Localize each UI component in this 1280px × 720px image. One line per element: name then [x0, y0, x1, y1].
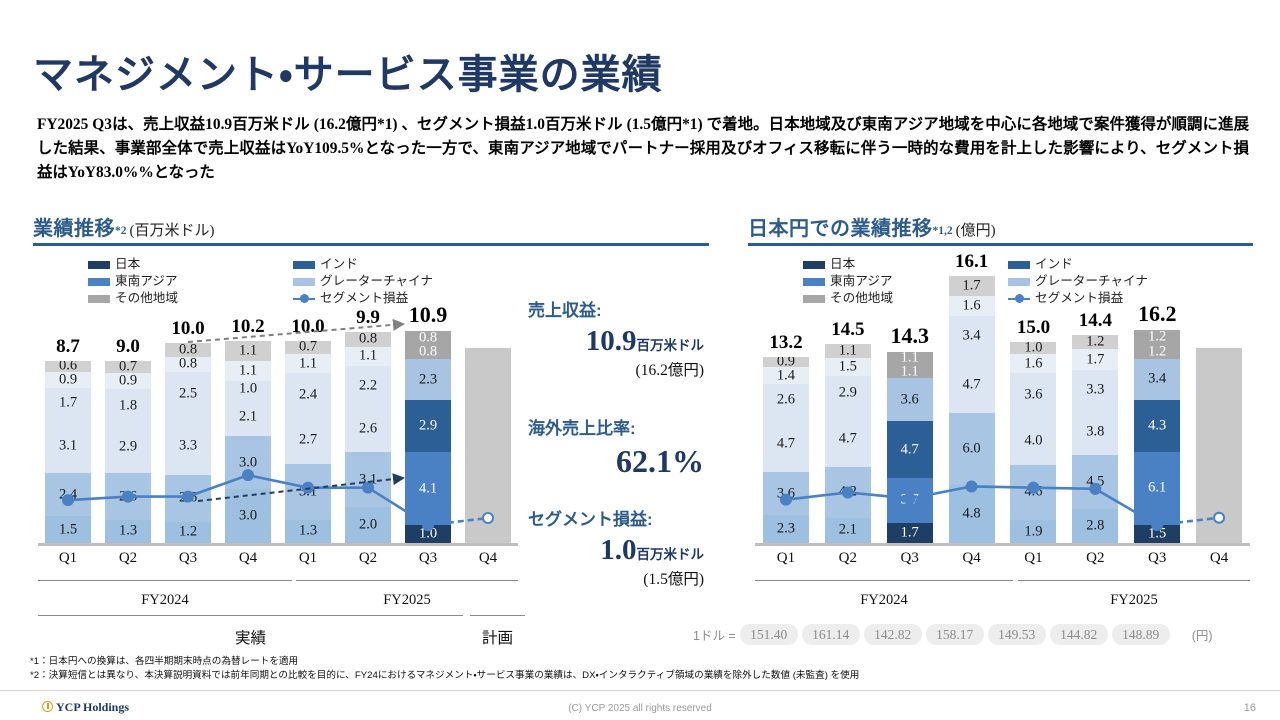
bar-segment: 2.9	[405, 400, 451, 452]
left-heading-superscript: *2	[115, 225, 127, 237]
fx-rate-pill: 144.82	[1050, 624, 1108, 645]
kpi-segment-unit: 百万米ドル	[637, 547, 705, 562]
fx-rate-pill: 149.53	[988, 624, 1046, 645]
bar-segment: 6.0	[949, 413, 995, 485]
bar-total-label: 9.0	[105, 336, 151, 358]
left-heading-rule	[33, 243, 709, 246]
bar-segment: 2.5	[165, 372, 211, 417]
legend-item-india-jpy: インド	[1008, 256, 1148, 273]
axis-label-quarter: Q3	[1132, 550, 1182, 567]
bar-segment: 2.1	[825, 518, 871, 543]
left-heading-text: 業績推移	[33, 218, 115, 240]
bar-segment: 0.8	[405, 331, 451, 345]
sea-swatch-icon	[88, 278, 110, 286]
bar-segment: 1.7	[949, 276, 995, 296]
bar-total-label: 16.2	[1134, 301, 1180, 327]
bar-segment: 4.3	[1134, 400, 1180, 452]
bar-segment: 1.7	[1072, 349, 1118, 369]
bar-segment: 1.9	[1010, 520, 1056, 543]
bar-total-label: 10.2	[225, 316, 271, 338]
bar-segment: 1.1	[285, 354, 331, 374]
bar-segment: 3.6	[763, 472, 809, 515]
bar-right-2: 1.73.74.73.61.11.114.3	[887, 352, 933, 543]
legend-label-japan: 日本	[115, 257, 140, 271]
bar-segment: 1.6	[949, 296, 995, 315]
segment-profit-line-icon	[1008, 294, 1030, 303]
left-plan-rule	[470, 615, 525, 616]
copyright-text: (C) YCP 2025 all rights reserved	[0, 703, 1280, 714]
bar-segment: 4.8	[949, 485, 995, 543]
bar-total-label: 14.4	[1072, 310, 1118, 332]
bar-total-label: 10.0	[285, 316, 331, 338]
bar-segment: 1.7	[887, 523, 933, 543]
bar-segment: 0.9	[105, 373, 151, 389]
axis-label-quarter: Q1	[761, 550, 811, 567]
bar-segment: 1.5	[825, 358, 871, 376]
bar-total-label: 9.9	[345, 307, 391, 329]
left-panel-heading: 業績推移*2(百万米ドル)	[33, 212, 215, 241]
bar-segment: 2.9	[825, 376, 871, 411]
bar-right-5: 2.84.53.83.31.71.214.4	[1072, 335, 1118, 543]
bar-segment: 2.6	[165, 475, 211, 521]
footnote-2: *2：決算短信とは異なり、本決算説明資料では前年同期との比較を目的に、FY24に…	[30, 669, 859, 683]
bar-right-4: 1.94.64.03.61.61.015.0	[1010, 342, 1056, 543]
other-swatch-icon	[803, 295, 825, 303]
bar-segment: 1.0	[1010, 342, 1056, 354]
bar-segment: 1.2	[165, 522, 211, 543]
bar-right-6: 1.56.14.33.41.21.216.2	[1134, 330, 1180, 543]
right-heading-text: 日本円での業績推移	[748, 218, 933, 240]
bar-segment: 6.1	[1134, 452, 1180, 525]
kpi-revenue: 売上収益: 10.9百万米ドル (16.2億円)	[528, 296, 704, 380]
fx-lead-label: 1ドル =	[693, 629, 736, 643]
axis-label-quarter: Q1	[43, 550, 93, 567]
greater-china-swatch-icon	[1008, 278, 1030, 286]
kpi-segment-sub: (1.5億円)	[528, 567, 704, 589]
axis-label-quarter: Q3	[885, 550, 935, 567]
bar-total-label: 10.0	[165, 318, 211, 340]
kpi-segment-label: セグメント損益:	[528, 505, 704, 530]
japan-swatch-icon	[88, 261, 110, 269]
fx-rate-pill: 148.89	[1112, 624, 1170, 645]
bar-left-7	[465, 348, 511, 543]
axis-label-quarter: Q1	[283, 550, 333, 567]
bar-segment: 3.3	[165, 416, 211, 475]
axis-label-quarter: Q4	[1194, 550, 1244, 567]
segment-profit-line-icon	[293, 294, 315, 303]
bar-segment: 1.4	[763, 367, 809, 384]
bar-segment: 0.8	[405, 345, 451, 359]
right-heading-superscript: *1,2	[933, 225, 953, 237]
greater-china-swatch-icon	[293, 278, 315, 286]
bar-segment: 2.1	[225, 398, 271, 436]
legend-label-other-jpy: その他地域	[830, 291, 893, 305]
bar-segment: 1.1	[225, 361, 271, 381]
bar-segment: 4.7	[949, 357, 995, 414]
bar-right-3: 4.86.04.73.41.61.716.1	[949, 276, 995, 543]
bar-segment: 2.9	[105, 422, 151, 474]
bar-segment: 2.3	[405, 359, 451, 400]
legend-item-greater-china-jpy: グレーターチャイナ	[1008, 273, 1148, 290]
legend-item-greater-china: グレーターチャイナ	[293, 273, 433, 290]
bar-total-label: 14.5	[825, 319, 871, 341]
summary-paragraph: FY2025 Q3は、売上収益10.9百万米ドル (16.2億円*1) 、セグメ…	[37, 113, 1249, 185]
bar-segment: 3.0	[225, 489, 271, 543]
legend-label-greater-china: グレーターチャイナ	[320, 274, 433, 288]
bar-total-label: 16.1	[949, 251, 995, 273]
bar-segment: 1.0	[225, 381, 271, 399]
other-swatch-icon	[88, 295, 110, 303]
right-fy2024-label: FY2024	[755, 592, 1013, 609]
page-number: 16	[1244, 702, 1256, 714]
fx-rate-pill: 161.14	[802, 624, 860, 645]
axis-label-quarter: Q4	[463, 550, 513, 567]
bar-segment: 1.7	[45, 388, 91, 418]
bar-segment: 1.2	[1134, 330, 1180, 344]
bar-segment: 3.4	[1134, 359, 1180, 400]
kpi-revenue-sub: (16.2億円)	[528, 358, 704, 380]
legend-label-sea-jpy: 東南アジア	[830, 274, 892, 288]
left-plan-label: 計画	[470, 626, 525, 648]
bar-segment: 1.1	[225, 341, 271, 361]
kpi-overseas-ratio: 海外売上比率: 62.1%	[528, 414, 704, 480]
bar-segment: 4.7	[887, 421, 933, 478]
bar-segment: 3.8	[1072, 409, 1118, 455]
bar-segment: 0.6	[45, 361, 91, 372]
bar-segment: 4.2	[825, 467, 871, 518]
left-fy2025-label: FY2025	[296, 592, 518, 609]
axis-label-quarter: Q4	[223, 550, 273, 567]
legend-item-india: インド	[293, 256, 433, 273]
bar-left-6: 1.04.12.92.30.80.810.9	[405, 331, 451, 544]
right-heading-unit: (億円)	[956, 223, 996, 239]
bar-segment: 4.5	[1072, 455, 1118, 509]
bar-segment: 4.7	[825, 411, 871, 468]
left-actual-label: 実績	[38, 626, 463, 648]
legend-label-segment-profit: セグメント損益	[320, 291, 408, 305]
bar-segment: 2.6	[345, 406, 391, 452]
bar-segment: 1.8	[105, 389, 151, 421]
kpi-revenue-unit: 百万米ドル	[637, 338, 705, 353]
legend-label-sea: 東南アジア	[115, 274, 177, 288]
fx-rate-pill: 142.82	[864, 624, 922, 645]
bar-segment: 2.7	[285, 416, 331, 464]
bar-left-1: 1.32.62.91.80.90.79.0	[105, 361, 151, 543]
left-fy2024-rule	[38, 580, 292, 581]
bar-segment: 3.1	[45, 418, 91, 473]
right-heading-rule	[748, 243, 1253, 246]
right-axis-quarter-labels: Q1Q2Q3Q4Q1Q2Q3Q4	[755, 550, 1250, 574]
bar-segment: 2.2	[345, 366, 391, 405]
legend-label-japan-jpy: 日本	[830, 257, 855, 271]
left-axis-line	[38, 543, 518, 546]
bar-segment: 2.0	[345, 507, 391, 543]
india-swatch-icon	[293, 261, 315, 269]
left-axis-quarter-labels: Q1Q2Q3Q4Q1Q2Q3Q4	[38, 550, 518, 574]
india-swatch-icon	[1008, 261, 1030, 269]
legend-item-other: その他地域	[88, 290, 293, 307]
bar-total-label: 13.2	[763, 332, 809, 354]
bar-segment: 2.6	[105, 473, 151, 519]
kpi-revenue-value: 10.9	[586, 325, 637, 357]
bar-left-2: 1.22.63.32.50.80.810.0	[165, 343, 211, 543]
axis-label-quarter: Q3	[163, 550, 213, 567]
bar-left-0: 1.52.43.11.70.90.68.7	[45, 361, 91, 543]
right-fy2025-label: FY2025	[1018, 592, 1250, 609]
left-heading-unit: (百万米ドル)	[130, 223, 215, 239]
bar-left-4: 1.33.12.72.41.10.710.0	[285, 341, 331, 543]
left-actual-rule	[38, 615, 463, 616]
left-fy2025-rule	[296, 580, 518, 581]
bar-segment: 3.6	[1010, 373, 1056, 416]
page-title: マネジメント・サービス事業の業績	[33, 42, 663, 100]
right-panel-heading: 日本円での業績推移*1,2(億円)	[748, 212, 996, 241]
bar-segment: 0.7	[285, 341, 331, 354]
legend-label-india: インド	[320, 257, 358, 271]
bar-segment: 1.1	[825, 344, 871, 357]
bar-segment: 3.3	[1072, 370, 1118, 410]
fx-rate-pill: 158.17	[926, 624, 984, 645]
kpi-segment-profit: セグメント損益: 1.0百万米ドル (1.5億円)	[528, 505, 704, 589]
bar-left-3: 3.03.02.11.01.11.110.2	[225, 341, 271, 543]
axis-label-quarter: Q4	[947, 550, 997, 567]
bar-segment: 1.2	[1134, 344, 1180, 358]
axis-label-quarter: Q2	[1070, 550, 1120, 567]
bar-segment: 1.5	[45, 516, 91, 543]
footer-divider	[0, 690, 1280, 691]
bar-segment: 3.4	[949, 316, 995, 357]
bar-segment: 3.0	[225, 436, 271, 490]
axis-label-quarter: Q3	[403, 550, 453, 567]
axis-label-quarter: Q2	[343, 550, 393, 567]
kpi-overseas-value: 62.1%	[616, 443, 704, 479]
legend-label-segment-profit-jpy: セグメント損益	[1035, 291, 1123, 305]
bar-total-label: 15.0	[1010, 317, 1056, 339]
legend-label-other: その他地域	[115, 291, 178, 305]
bar-total-label: 8.7	[45, 336, 91, 358]
bar-segment: 2.3	[763, 515, 809, 543]
bar-segment: 2.6	[763, 384, 809, 415]
left-chart-plot: 1.52.43.11.70.90.68.71.32.62.91.80.90.79…	[38, 318, 518, 543]
bar-segment: 3.1	[285, 464, 331, 519]
bar-segment: 1.0	[405, 525, 451, 543]
bar-segment: 0.7	[105, 361, 151, 374]
bar-segment: 1.1	[345, 347, 391, 367]
bar-segment: 3.7	[887, 478, 933, 523]
bar-right-0: 2.33.64.72.61.40.913.2	[763, 357, 809, 543]
slide: マネジメント・サービス事業の業績 FY2025 Q3は、売上収益10.9百万米ド…	[0, 0, 1280, 720]
bar-segment: 4.1	[405, 452, 451, 525]
japan-swatch-icon	[803, 261, 825, 269]
bar-segment: 2.8	[1072, 509, 1118, 543]
fx-rate-pill: 151.40	[740, 624, 798, 645]
bar-segment: 0.8	[165, 357, 211, 371]
bar-segment: 0.8	[345, 332, 391, 346]
bar-segment: 4.6	[1010, 465, 1056, 520]
bar-segment: 1.5	[1134, 525, 1180, 543]
footnotes: *1：日本円への換算は、各四半期期末時点の為替レートを適用 *2：決算短信とは異…	[30, 655, 859, 683]
bar-segment: 0.9	[45, 372, 91, 388]
footnote-1: *1：日本円への換算は、各四半期期末時点の為替レートを適用	[30, 655, 859, 669]
bar-segment: 1.1	[887, 352, 933, 365]
legend-item-japan: 日本	[88, 256, 293, 273]
bar-segment: 1.2	[1072, 335, 1118, 349]
bar-segment: 3.6	[887, 378, 933, 421]
legend-label-india-jpy: インド	[1035, 257, 1073, 271]
bar-segment: 1.3	[285, 520, 331, 543]
bar-segment: 1.6	[1010, 354, 1056, 373]
right-axis-line	[755, 543, 1250, 546]
fx-unit-label: (円)	[1192, 629, 1213, 643]
bar-segment: 2.4	[285, 373, 331, 416]
kpi-revenue-label: 売上収益:	[528, 296, 704, 321]
axis-label-quarter: Q1	[1008, 550, 1058, 567]
legend-item-segment-profit-jpy: セグメント損益	[1008, 290, 1148, 307]
kpi-segment-value: 1.0	[600, 534, 636, 566]
legend-label-greater-china-jpy: グレーターチャイナ	[1035, 274, 1148, 288]
bar-segment: 3.1	[345, 452, 391, 507]
bar-right-1: 2.14.24.72.91.51.114.5	[825, 344, 871, 543]
right-fy2024-rule	[755, 580, 1013, 581]
axis-label-quarter: Q2	[823, 550, 873, 567]
bar-segment: 1.1	[887, 365, 933, 378]
right-chart-plot: 2.33.64.72.61.40.913.22.14.24.72.91.51.1…	[755, 318, 1250, 543]
bar-segment: 0.8	[165, 343, 211, 357]
fx-rate-row: 1ドル =151.40161.14142.82158.17149.53144.8…	[693, 624, 1213, 645]
right-fy2025-rule	[1018, 580, 1250, 581]
bar-segment: 0.9	[763, 357, 809, 368]
bar-segment: 2.4	[45, 473, 91, 516]
kpi-overseas-label: 海外売上比率:	[528, 414, 704, 439]
bar-segment: 4.0	[1010, 417, 1056, 465]
axis-label-quarter: Q2	[103, 550, 153, 567]
bar-right-7	[1196, 348, 1242, 543]
sea-swatch-icon	[803, 278, 825, 286]
legend-item-sea: 東南アジア	[88, 273, 293, 290]
left-chart-legend: 日本 東南アジア その他地域 インド グレーターチャイナ セグメント損益	[88, 256, 433, 307]
left-fy2024-label: FY2024	[38, 592, 292, 609]
bar-total-label: 10.9	[405, 302, 451, 328]
bar-total-label: 14.3	[887, 323, 933, 349]
bar-segment: 1.3	[105, 520, 151, 543]
bar-left-5: 2.03.12.62.21.10.89.9	[345, 332, 391, 543]
bar-segment: 4.7	[763, 415, 809, 472]
